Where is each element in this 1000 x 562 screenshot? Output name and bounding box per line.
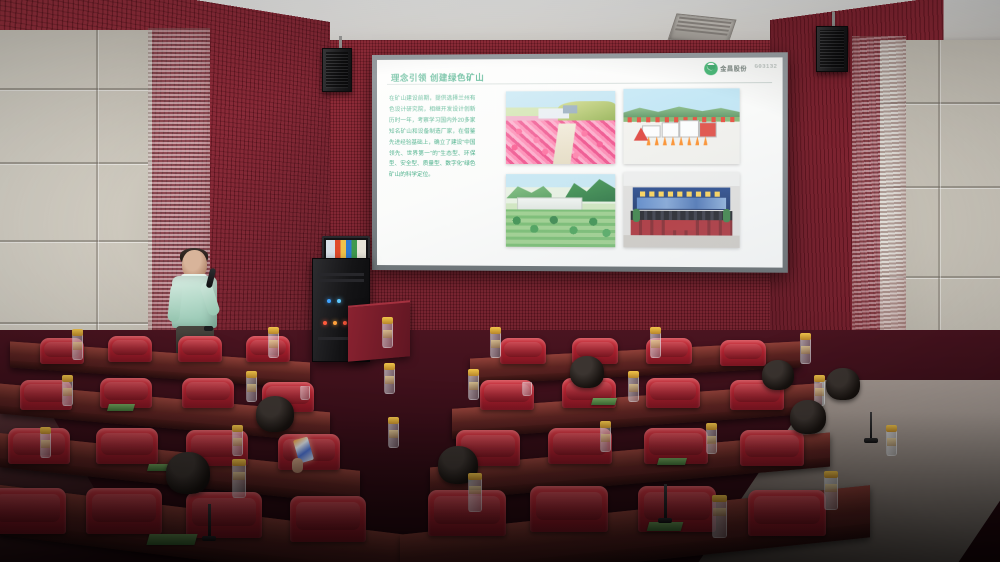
- audience-hand: [292, 458, 303, 473]
- water-bottle: [706, 426, 717, 454]
- water-bottle: [468, 476, 482, 512]
- desk-microphone: [664, 484, 667, 520]
- seat: [178, 336, 222, 362]
- slide-photo-conference-stage: [623, 172, 739, 248]
- water-bottle: [384, 366, 395, 394]
- slide-body-text: 在矿山建设前期，提供选择兰州有色设计研究院，相继开发设计创新历时一年，考察学习国…: [389, 94, 476, 182]
- side-cabinet: [348, 300, 410, 361]
- slide-photo-green-mine: [506, 174, 615, 247]
- water-bottle: [824, 474, 838, 510]
- audience-head: [826, 368, 860, 400]
- ceiling-speaker-left: [322, 48, 352, 92]
- audience-head: [762, 360, 794, 390]
- drinking-glass: [522, 382, 532, 396]
- desk-microphone: [208, 504, 211, 538]
- water-bottle: [62, 378, 73, 406]
- seat: [290, 496, 366, 542]
- slide-company-logo: 金昌股份: [705, 62, 747, 76]
- seat: [748, 490, 826, 536]
- water-bottle: [800, 336, 811, 364]
- seat: [500, 338, 546, 364]
- slide-photo-flower-field: [506, 91, 615, 164]
- water-bottle: [246, 374, 257, 402]
- slide-title: 理念引领 创建绿色矿山: [391, 71, 484, 84]
- seat: [96, 428, 158, 464]
- water-bottle: [490, 330, 501, 358]
- water-bottle: [232, 428, 243, 456]
- ceiling-speaker-right: [816, 26, 848, 72]
- slide-document-code: G03132: [754, 64, 777, 70]
- desk-microphone: [870, 412, 872, 440]
- green-name-card: [146, 534, 197, 545]
- seat: [428, 490, 506, 536]
- seat: [0, 488, 66, 534]
- water-bottle: [232, 462, 246, 498]
- seat: [182, 378, 234, 408]
- seat: [740, 430, 804, 466]
- water-bottle: [268, 330, 279, 358]
- audience-head: [166, 452, 210, 494]
- projection-screen[interactable]: 理念引领 创建绿色矿山 金昌股份 G03132 在矿山建设前期，提供选择兰州有色…: [377, 57, 783, 267]
- projection-screen-frame: 理念引领 创建绿色矿山 金昌股份 G03132 在矿山建设前期，提供选择兰州有色…: [372, 52, 788, 273]
- seat: [646, 378, 700, 408]
- seat: [8, 428, 70, 464]
- presentation-clicker: [204, 326, 213, 331]
- seat: [108, 336, 152, 362]
- water-bottle: [886, 428, 897, 456]
- water-bottle: [650, 330, 661, 358]
- water-bottle: [40, 430, 51, 458]
- green-name-card: [591, 398, 617, 405]
- drinking-glass: [300, 386, 310, 400]
- water-bottle: [628, 374, 639, 402]
- green-name-card: [647, 522, 684, 531]
- green-name-card: [107, 404, 135, 411]
- logo-company-name: 金昌股份: [720, 64, 747, 73]
- water-bottle: [388, 420, 399, 448]
- slide-photo-ceremony-vehicles: [623, 88, 739, 164]
- seat: [530, 486, 608, 532]
- seat: [720, 340, 766, 366]
- presentation-slide: 理念引领 创建绿色矿山 金昌股份 G03132 在矿山建设前期，提供选择兰州有色…: [377, 57, 783, 267]
- water-bottle: [382, 320, 393, 348]
- water-bottle: [600, 424, 611, 452]
- audience-head: [256, 396, 294, 432]
- water-bottle: [712, 498, 727, 538]
- water-bottle: [72, 332, 83, 360]
- logo-mark-icon: [705, 62, 719, 75]
- seat: [86, 488, 162, 534]
- conference-room-scene: 理念引领 创建绿色矿山 金昌股份 G03132 在矿山建设前期，提供选择兰州有色…: [0, 0, 1000, 562]
- audience-head: [790, 400, 826, 434]
- audience-head: [570, 356, 604, 388]
- green-name-card: [657, 458, 687, 465]
- water-bottle: [468, 372, 479, 400]
- seat: [186, 492, 262, 538]
